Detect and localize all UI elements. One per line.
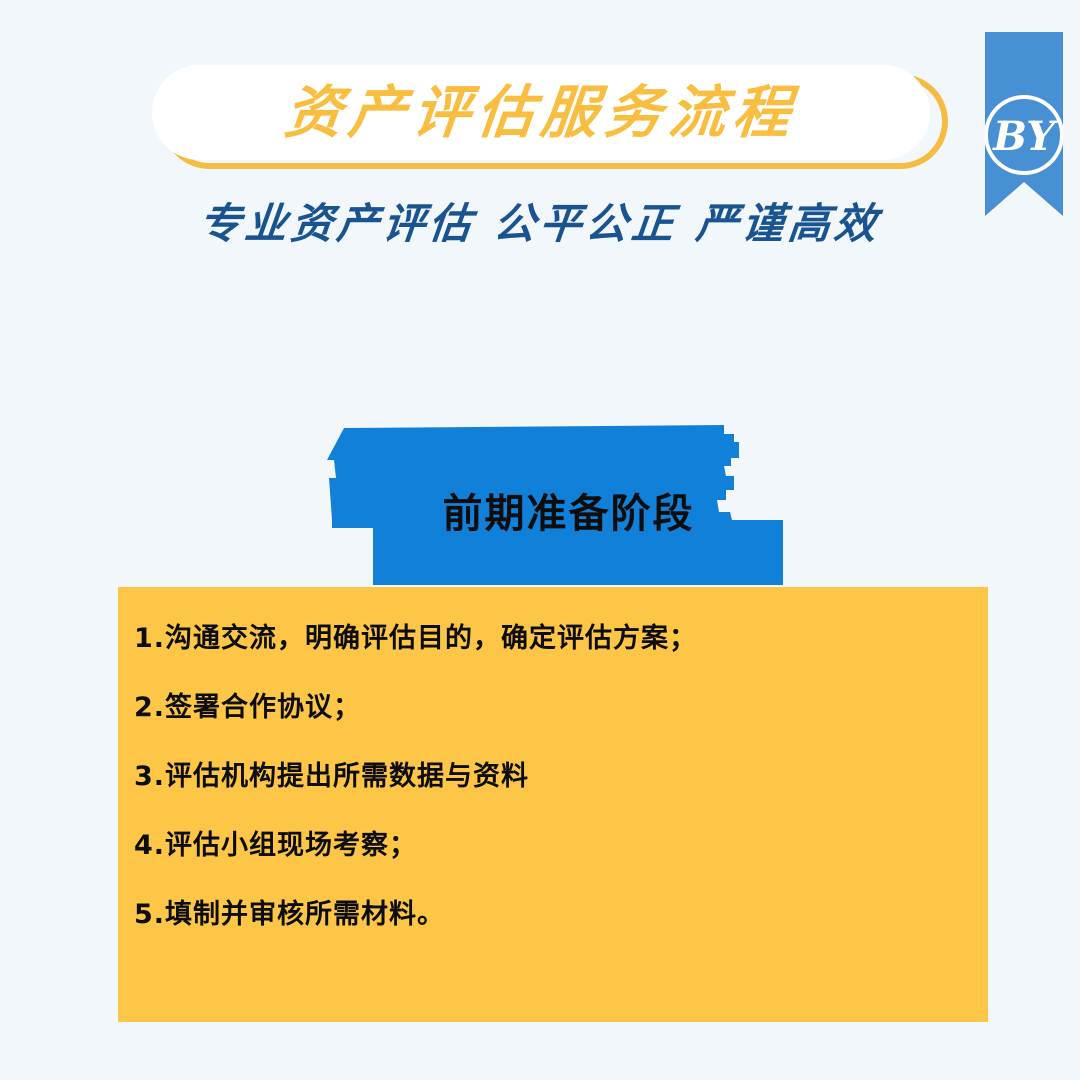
title-pill: 资产评估服务流程 <box>152 65 930 160</box>
page-title: 资产评估服务流程 <box>282 84 800 141</box>
ribbon-badge-icon: BY <box>985 32 1063 216</box>
ribbon-badge: BY <box>985 32 1063 216</box>
list-item: 1.沟通交流，明确评估目的，确定评估方案； <box>134 625 958 652</box>
process-step-list: 1.沟通交流，明确评估目的，确定评估方案； 2.签署合作协议； 3.评估机构提出… <box>134 625 958 928</box>
poster-canvas: BY 资产评估服务流程 专业资产评估 公平公正 严谨高效 前期准备阶段 1.沟通… <box>0 0 1080 1080</box>
list-item: 5.填制并审核所需材料。 <box>134 901 958 928</box>
page-subtitle: 专业资产评估 公平公正 严谨高效 <box>0 190 1080 251</box>
title-banner: 资产评估服务流程 <box>152 65 948 169</box>
badge-text: BY <box>992 113 1058 160</box>
torn-paper-icon <box>320 420 795 590</box>
list-item: 4.评估小组现场考察； <box>134 832 958 859</box>
list-item: 2.签署合作协议； <box>134 694 958 721</box>
stage-banner-shape <box>320 420 795 590</box>
content-panel: 1.沟通交流，明确评估目的，确定评估方案； 2.签署合作协议； 3.评估机构提出… <box>118 587 988 1022</box>
list-item: 3.评估机构提出所需数据与资料 <box>134 763 958 790</box>
